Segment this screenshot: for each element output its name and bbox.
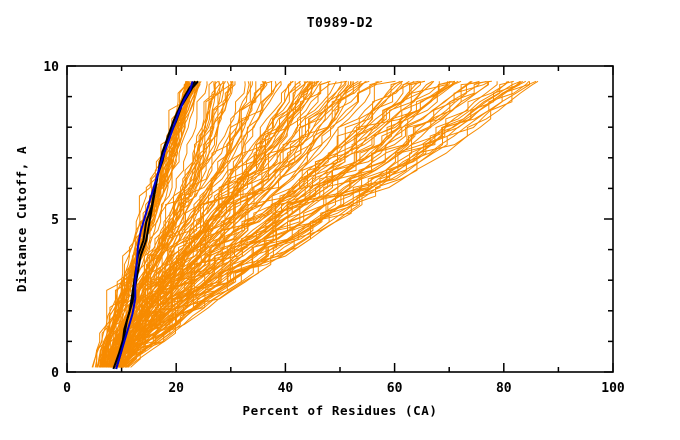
chart-window: T0989-D2 020406080100 0510 Percent of Re… bbox=[0, 0, 680, 440]
x-tick-label: 60 bbox=[387, 381, 403, 396]
x-tick-label: 40 bbox=[278, 381, 294, 396]
x-axis-title: Percent of Residues (CA) bbox=[242, 403, 437, 418]
x-tick-label: 100 bbox=[601, 381, 625, 396]
x-axis-tick-labels: 020406080100 bbox=[63, 381, 625, 396]
y-tick-label: 5 bbox=[51, 213, 59, 228]
series-prediction-models bbox=[92, 81, 538, 367]
y-tick-label: 10 bbox=[43, 60, 59, 75]
plot-canvas: 020406080100 0510 Percent of Residues (C… bbox=[0, 0, 680, 440]
y-axis-title: Distance Cutoff, A bbox=[14, 146, 29, 292]
x-tick-label: 0 bbox=[63, 381, 71, 396]
x-tick-label: 80 bbox=[496, 381, 512, 396]
x-tick-label: 20 bbox=[168, 381, 184, 396]
y-axis-tick-labels: 0510 bbox=[43, 60, 59, 381]
y-tick-label: 0 bbox=[51, 366, 59, 381]
